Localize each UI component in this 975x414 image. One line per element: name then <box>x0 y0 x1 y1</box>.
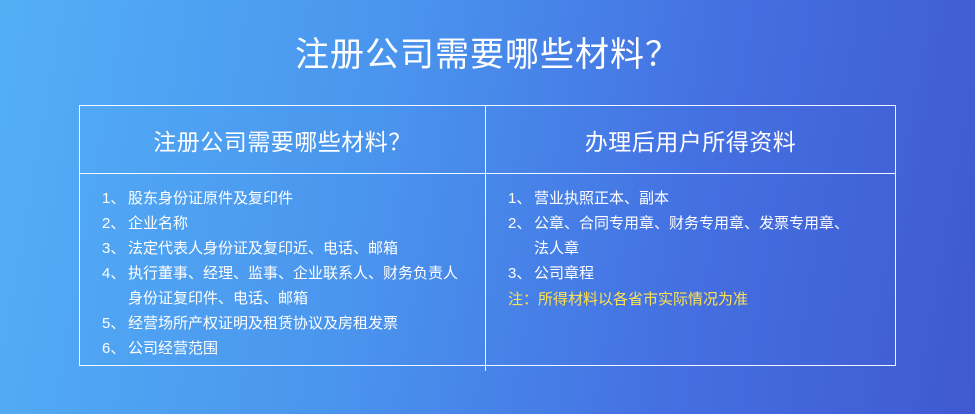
list-item-number: 2、 <box>508 211 534 236</box>
table-body-row: 1、 股东身份证原件及复印件 2、 企业名称 3、 法定代表人身份证及复印近、电… <box>80 174 895 371</box>
list-item-number: 1、 <box>508 186 534 211</box>
list-item-label: 公司经营范围 <box>128 336 465 361</box>
list-item: 3、 公司章程 <box>508 261 875 286</box>
page-title: 注册公司需要哪些材料？ <box>0 34 975 76</box>
list-item: 6、 公司经营范围 <box>102 336 465 361</box>
deliverables-note: 注：所得材料以各省市实际情况为准 <box>508 287 875 312</box>
promo-banner: 注册公司需要哪些材料？ 注册公司需要哪些材料？ 办理后用户所得资料 1、 股东身… <box>0 0 975 414</box>
list-item-label: 企业名称 <box>128 211 465 236</box>
list-item-label: 公章、合同专用章、财务专用章、发票专用章、 法人章 <box>534 211 875 261</box>
list-item-number: 2、 <box>102 211 128 236</box>
column-header-deliverables: 办理后用户所得资料 <box>486 106 895 173</box>
list-item: 5、 经营场所产权证明及租赁协议及房租发票 <box>102 311 465 336</box>
list-item-number: 6、 <box>102 336 128 361</box>
deliverables-cell: 1、 营业执照正本、副本 2、 公章、合同专用章、财务专用章、发票专用章、 法人… <box>486 174 895 371</box>
table-body-cell-left: 1、 股东身份证原件及复印件 2、 企业名称 3、 法定代表人身份证及复印近、电… <box>80 174 486 371</box>
list-item-number: 5、 <box>102 311 128 336</box>
list-item: 2、 公章、合同专用章、财务专用章、发票专用章、 法人章 <box>508 211 875 261</box>
list-item: 2、 企业名称 <box>102 211 465 236</box>
table-body-cell-right: 1、 营业执照正本、副本 2、 公章、合同专用章、财务专用章、发票专用章、 法人… <box>486 174 895 371</box>
table-header-cell-left: 注册公司需要哪些材料？ <box>80 106 486 173</box>
deliverables-list: 1、 营业执照正本、副本 2、 公章、合同专用章、财务专用章、发票专用章、 法人… <box>508 186 875 286</box>
table-header-cell-right: 办理后用户所得资料 <box>486 106 895 173</box>
list-item-label: 法定代表人身份证及复印近、电话、邮箱 <box>128 236 465 261</box>
list-item: 1、 股东身份证原件及复印件 <box>102 186 465 211</box>
list-item-label: 经营场所产权证明及租赁协议及房租发票 <box>128 311 465 336</box>
list-item-number: 3、 <box>102 236 128 261</box>
list-item: 1、 营业执照正本、副本 <box>508 186 875 211</box>
list-item-number: 1、 <box>102 186 128 211</box>
table-header-row: 注册公司需要哪些材料？ 办理后用户所得资料 <box>80 106 895 174</box>
list-item-number: 4、 <box>102 261 128 286</box>
list-item-label: 股东身份证原件及复印件 <box>128 186 465 211</box>
list-item: 3、 法定代表人身份证及复印近、电话、邮箱 <box>102 236 465 261</box>
list-item: 4、 执行董事、经理、监事、企业联系人、财务负责人 身份证复印件、电话、邮箱 <box>102 261 465 311</box>
list-item-number: 3、 <box>508 261 534 286</box>
materials-cell: 1、 股东身份证原件及复印件 2、 企业名称 3、 法定代表人身份证及复印近、电… <box>80 174 485 371</box>
list-item-label: 公司章程 <box>534 261 875 286</box>
materials-list: 1、 股东身份证原件及复印件 2、 企业名称 3、 法定代表人身份证及复印近、电… <box>102 186 465 361</box>
column-header-materials: 注册公司需要哪些材料？ <box>80 106 485 173</box>
list-item-label: 营业执照正本、副本 <box>534 186 875 211</box>
list-item-label: 执行董事、经理、监事、企业联系人、财务负责人 身份证复印件、电话、邮箱 <box>128 261 465 311</box>
requirements-table: 注册公司需要哪些材料？ 办理后用户所得资料 1、 股东身份证原件及复印件 2、 <box>79 105 896 366</box>
